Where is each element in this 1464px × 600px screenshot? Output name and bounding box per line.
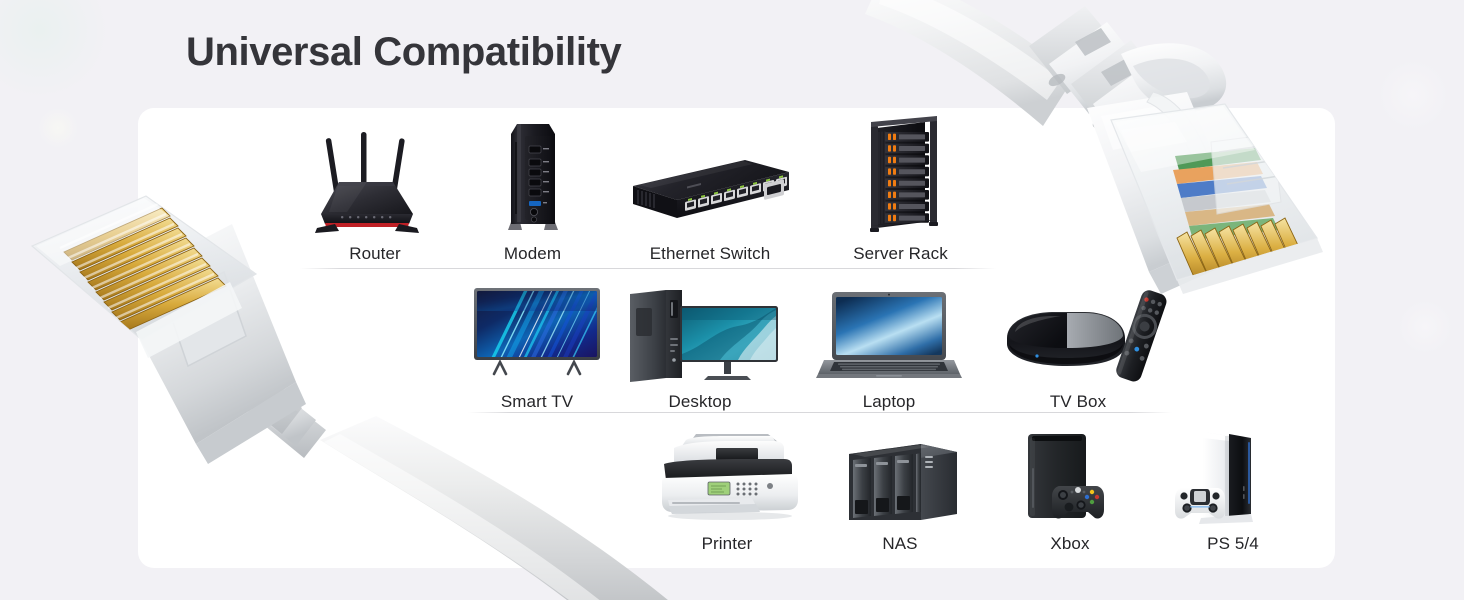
compat-item-label: Laptop xyxy=(863,392,916,412)
page-title: Universal Compatibility xyxy=(186,30,621,75)
compat-row-3: Printer xyxy=(640,428,1312,554)
nas-enclosure-icon xyxy=(835,428,965,528)
background-bokeh xyxy=(38,108,78,148)
playstation-console-icon xyxy=(1173,428,1293,528)
background-bokeh xyxy=(0,0,110,100)
xbox-console-icon xyxy=(1010,428,1130,528)
rj45-connector-left xyxy=(20,190,720,600)
compat-item-xbox: Xbox xyxy=(986,428,1154,554)
compat-item-label: NAS xyxy=(882,534,917,554)
compat-item-playstation: PS 5/4 xyxy=(1154,428,1312,554)
compat-item-label: Xbox xyxy=(1050,534,1089,554)
rj45-connector-right xyxy=(925,0,1445,400)
compat-item-label: PS 5/4 xyxy=(1207,534,1259,554)
compat-item-nas: NAS xyxy=(814,428,986,554)
infographic-canvas: Universal Compatibility xyxy=(0,0,1464,600)
